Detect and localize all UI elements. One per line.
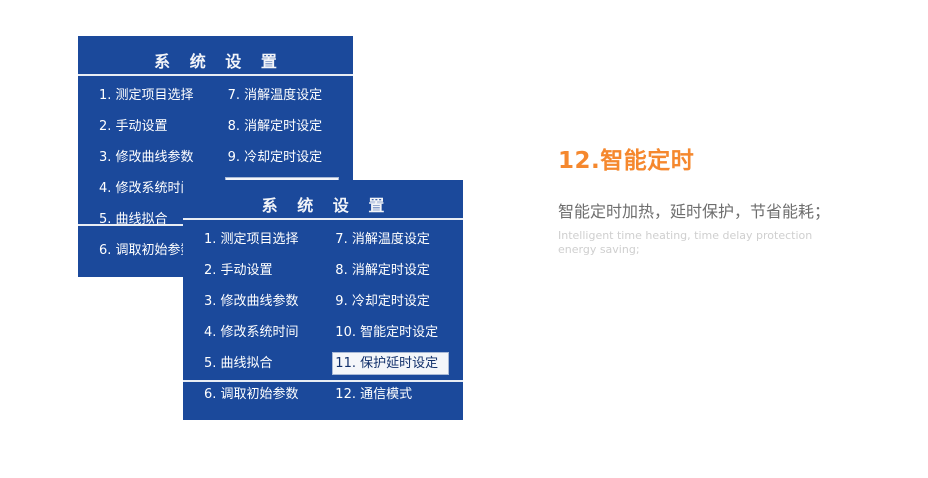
feature-body-text: 智能定时加热，延时保护，节省能耗； (558, 198, 848, 225)
panel-title-back: 系 统 设 置 (78, 48, 353, 72)
panel-header-divider-front (183, 218, 463, 220)
menu-item-8-back[interactable]: 8. 消解定时设定 (225, 115, 339, 138)
feature-description: 12.智能定时 智能定时加热，延时保护，节省能耗； Intelligent ti… (558, 146, 878, 257)
panel-header-divider-back (78, 74, 353, 76)
menu-item-3-front[interactable]: 3. 修改曲线参数 (201, 290, 332, 313)
menu-item-2-front[interactable]: 2. 手动设置 (201, 259, 332, 282)
screenshot-stage: 系 统 设 置 1. 测定项目选择 2. 手动设置 3. 修改曲线参数 4. 修… (0, 0, 928, 478)
menu-item-2-back[interactable]: 2. 手动设置 (96, 115, 225, 138)
panel-footer-divider-front (183, 380, 463, 382)
menu-item-4-front[interactable]: 4. 修改系统时间 (201, 321, 332, 344)
menu-item-3-back[interactable]: 3. 修改曲线参数 (96, 146, 225, 169)
panel-title-front: 系 统 设 置 (183, 192, 463, 216)
menu-item-1-back[interactable]: 1. 测定项目选择 (96, 84, 225, 107)
menu-item-5-front[interactable]: 5. 曲线拟合 (201, 352, 332, 375)
menu-item-7-front[interactable]: 7. 消解温度设定 (332, 228, 449, 251)
feature-subtitle-english: Intelligent time heating, time delay pro… (558, 229, 848, 257)
menu-item-1-front[interactable]: 1. 测定项目选择 (201, 228, 332, 251)
system-settings-panel-front[interactable]: 系 统 设 置 1. 测定项目选择 2. 手动设置 3. 修改曲线参数 4. 修… (183, 180, 463, 420)
menu-column-left-front: 1. 测定项目选择 2. 手动设置 3. 修改曲线参数 4. 修改系统时间 5.… (201, 228, 332, 414)
menu-column-right-front: 7. 消解温度设定 8. 消解定时设定 9. 冷却定时设定 10. 智能定时设定… (332, 228, 449, 414)
menu-item-10-front[interactable]: 10. 智能定时设定 (332, 321, 449, 344)
menu-item-8-front[interactable]: 8. 消解定时设定 (332, 259, 449, 282)
menu-columns-front: 1. 测定项目选择 2. 手动设置 3. 修改曲线参数 4. 修改系统时间 5.… (183, 228, 463, 414)
menu-item-11-front[interactable]: 11. 保护延时设定 (332, 352, 449, 375)
menu-item-9-front[interactable]: 9. 冷却定时设定 (332, 290, 449, 313)
menu-item-12-front[interactable]: 12. 通信模式 (332, 383, 449, 406)
menu-item-6-front[interactable]: 6. 调取初始参数 (201, 383, 332, 406)
menu-item-9-back[interactable]: 9. 冷却定时设定 (225, 146, 339, 169)
menu-item-7-back[interactable]: 7. 消解温度设定 (225, 84, 339, 107)
feature-heading: 12.智能定时 (558, 146, 878, 176)
